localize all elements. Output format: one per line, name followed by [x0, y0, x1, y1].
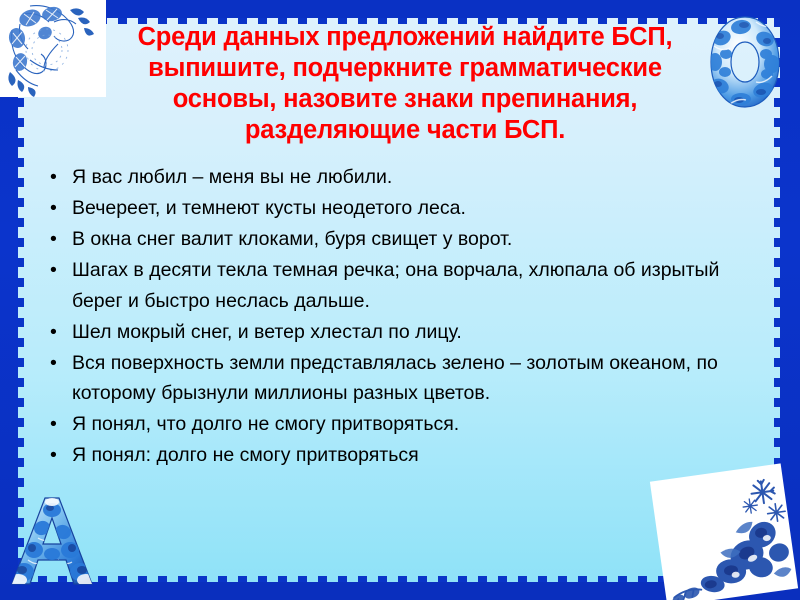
bullet-icon: • [50, 348, 64, 379]
sentence-list: •Я вас любил – меня вы не любили.•Вечере… [42, 162, 734, 471]
gzhel-corner-ornament-icon [0, 0, 106, 97]
gzhel-letter-o-icon [708, 14, 782, 110]
sentence-list-item: •Шел мокрый снег, и ветер хлестал по лиц… [42, 317, 734, 348]
sentence-text: Я понял, что долго не смогу притворяться… [72, 413, 459, 435]
sentence-text: Шел мокрый снег, и ветер хлестал по лицу… [72, 321, 462, 343]
gzhel-floral-icon [650, 463, 798, 600]
sentence-text: Я вас любил – меня вы не любили. [72, 166, 392, 188]
slide-title: Среди данных предложений найдите БСП, вы… [60, 22, 750, 146]
bullet-icon: • [50, 440, 64, 471]
slide-canvas: Среди данных предложений найдите БСП, вы… [0, 0, 800, 600]
gzhel-corner-ornament-card [0, 0, 106, 97]
sentence-list-item: •Я вас любил – меня вы не любили. [42, 162, 734, 193]
gzhel-letter-a-icon [8, 494, 96, 588]
sentence-list-item: •Вся поверхность земли представлялась зе… [42, 348, 734, 409]
sentence-list-item: •Я понял, что долго не смогу притворятьс… [42, 409, 734, 440]
sentence-text: Вечереет, и темнеют кусты неодетого леса… [72, 197, 466, 219]
sentence-list-item: •Я понял: долго не смогу притворяться [42, 440, 734, 471]
gzhel-letter-a-decoration [8, 494, 96, 588]
bullet-icon: • [50, 162, 64, 193]
sentence-text: Я понял: долго не смогу притворяться [72, 444, 419, 466]
bullet-icon: • [50, 224, 64, 255]
sentence-text: В окна снег валит клоками, буря свищет у… [72, 228, 512, 250]
sentence-list-item: •В окна снег валит клоками, буря свищет … [42, 224, 734, 255]
gzhel-letter-o-decoration [708, 14, 782, 110]
sentence-list-item: •Вечереет, и темнеют кусты неодетого лес… [42, 193, 734, 224]
bullet-icon: • [50, 409, 64, 440]
sentence-list-item: •Шагах в десяти текла темная речка; она … [42, 255, 734, 316]
sentence-text: Шагах в десяти текла темная речка; она в… [72, 259, 719, 312]
sentence-text: Вся поверхность земли представлялась зел… [72, 352, 718, 405]
gzhel-floral-card [650, 463, 798, 600]
bullet-icon: • [50, 193, 64, 224]
bullet-icon: • [50, 255, 64, 286]
gzhel-floral-card-decoration [652, 468, 800, 600]
bullet-icon: • [50, 317, 64, 348]
